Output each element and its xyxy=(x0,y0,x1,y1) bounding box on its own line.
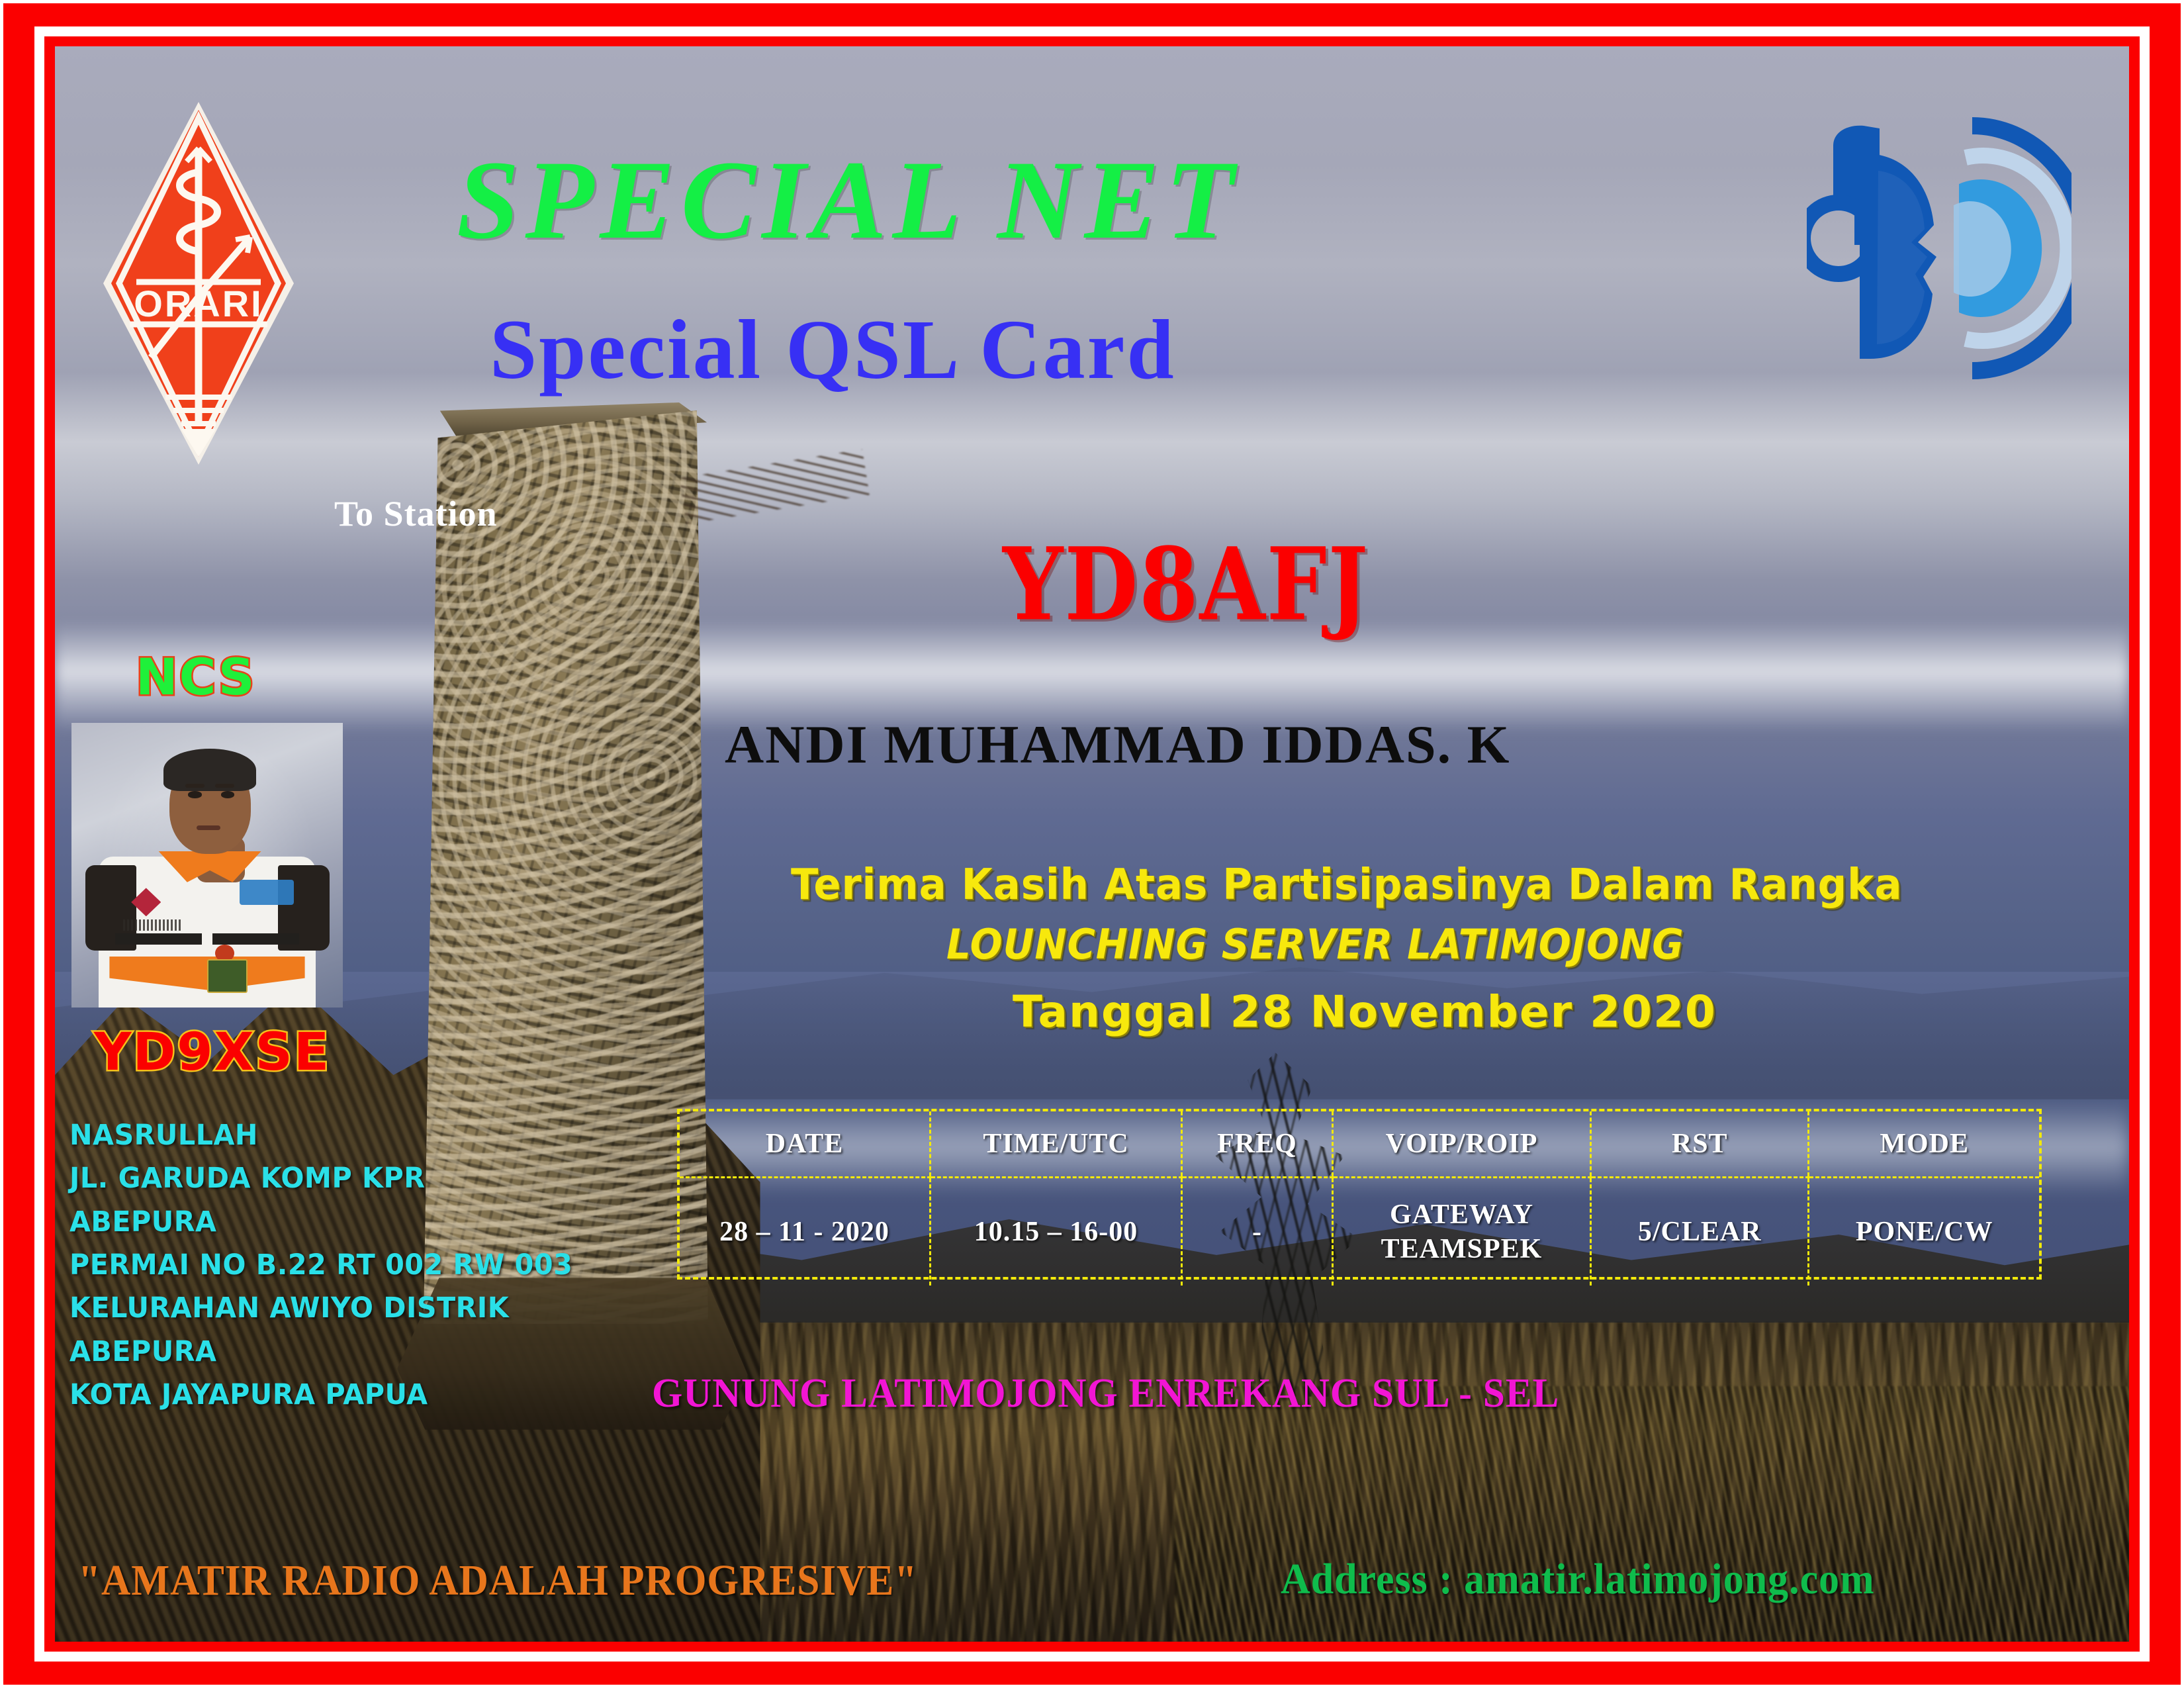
address-line: ABEPURA xyxy=(69,1201,572,1244)
hair xyxy=(163,749,255,792)
column-header-mode: MODE xyxy=(1809,1111,2039,1178)
radio-headphone-logo xyxy=(1807,106,2071,384)
cell-voip-line1: GATEWAY xyxy=(1334,1197,1589,1232)
mouth xyxy=(197,825,221,830)
station-callsign: YD8AFJ xyxy=(1003,526,1369,643)
address-line: PERMAI NO B.22 RT 002 RW 003 xyxy=(69,1244,572,1287)
operator-name: ANDI MUHAMMAD IDDAS. K xyxy=(725,714,1510,776)
eyebrow-right xyxy=(215,784,234,788)
column-header-rst: RST xyxy=(1591,1111,1809,1178)
eye-left xyxy=(188,791,202,798)
to-station-label: To Station xyxy=(334,493,498,534)
callsign-embroidery xyxy=(123,919,183,931)
page-subtitle: Special QSL Card xyxy=(490,301,1176,399)
ncs-callsign: YD9XSE xyxy=(94,1023,330,1082)
qso-details-table: DATE TIME/UTC FREQ VOIP/ROIP RST MODE 28… xyxy=(677,1109,2042,1280)
cell-freq: - xyxy=(1182,1178,1333,1286)
eyebrow-left xyxy=(185,784,205,788)
slogan-text: "AMATIR RADIO ADALAH PROGRESIVE" xyxy=(78,1556,917,1606)
ncs-label: NCS xyxy=(136,647,256,706)
venue-line: GUNUNG LATIMOJONG ENREKANG SUL - SEL xyxy=(652,1370,1559,1417)
orari-logo: ORARI xyxy=(99,98,298,469)
thanks-line: Terima Kasih Atas Partisipasinya Dalam R… xyxy=(791,861,1902,910)
qsl-card: ORARI SPECIAL NET Special QSL Card To St… xyxy=(0,0,2184,1688)
orari-logo-text: ORARI xyxy=(134,283,263,324)
cell-voip-line2: TEAMSPEK xyxy=(1334,1232,1589,1266)
cell-rst: 5/CLEAR xyxy=(1591,1178,1809,1286)
column-header-voip: VOIP/ROIP xyxy=(1332,1111,1590,1178)
address-line: JL. GARUDA KOMP KPR xyxy=(69,1157,572,1200)
eye-right xyxy=(221,791,235,798)
cell-mode: PONE/CW xyxy=(1809,1178,2039,1286)
uniform-stripe-right xyxy=(212,933,299,945)
page-title: SPECIAL NET xyxy=(457,136,1240,265)
address-line: KOTA JAYAPURA PAPUA xyxy=(69,1374,572,1417)
address-line: KELURAHAN AWIYO DISTRIK xyxy=(69,1287,572,1330)
cell-voip: GATEWAY TEAMSPEK xyxy=(1332,1178,1590,1286)
cell-date: 28 – 11 - 2020 xyxy=(680,1178,931,1286)
event-name: LOUNCHING SERVER LATIMOJONG xyxy=(946,920,1684,968)
column-header-date: DATE xyxy=(680,1111,931,1178)
address-line: ABEPURA xyxy=(69,1331,572,1374)
table-header-row: DATE TIME/UTC FREQ VOIP/ROIP RST MODE xyxy=(680,1111,2039,1178)
event-date: Tanggal 28 November 2020 xyxy=(1013,986,1717,1037)
table-row: 28 – 11 - 2020 10.15 – 16-00 - GATEWAY T… xyxy=(680,1178,2039,1286)
address-line: NASRULLAH xyxy=(69,1114,572,1157)
cell-time: 10.15 – 16-00 xyxy=(931,1178,1182,1286)
chest-badge xyxy=(240,880,294,906)
ncs-operator-photo xyxy=(71,723,343,1008)
uniform-stripe-left xyxy=(115,933,202,945)
id-card xyxy=(207,959,248,993)
column-header-freq: FREQ xyxy=(1182,1111,1333,1178)
column-header-time: TIME/UTC xyxy=(931,1111,1182,1178)
return-address-block: NASRULLAH JL. GARUDA KOMP KPR ABEPURA PE… xyxy=(69,1114,572,1417)
web-address-text: Address : amatir.latimojong.com xyxy=(1281,1554,1875,1605)
